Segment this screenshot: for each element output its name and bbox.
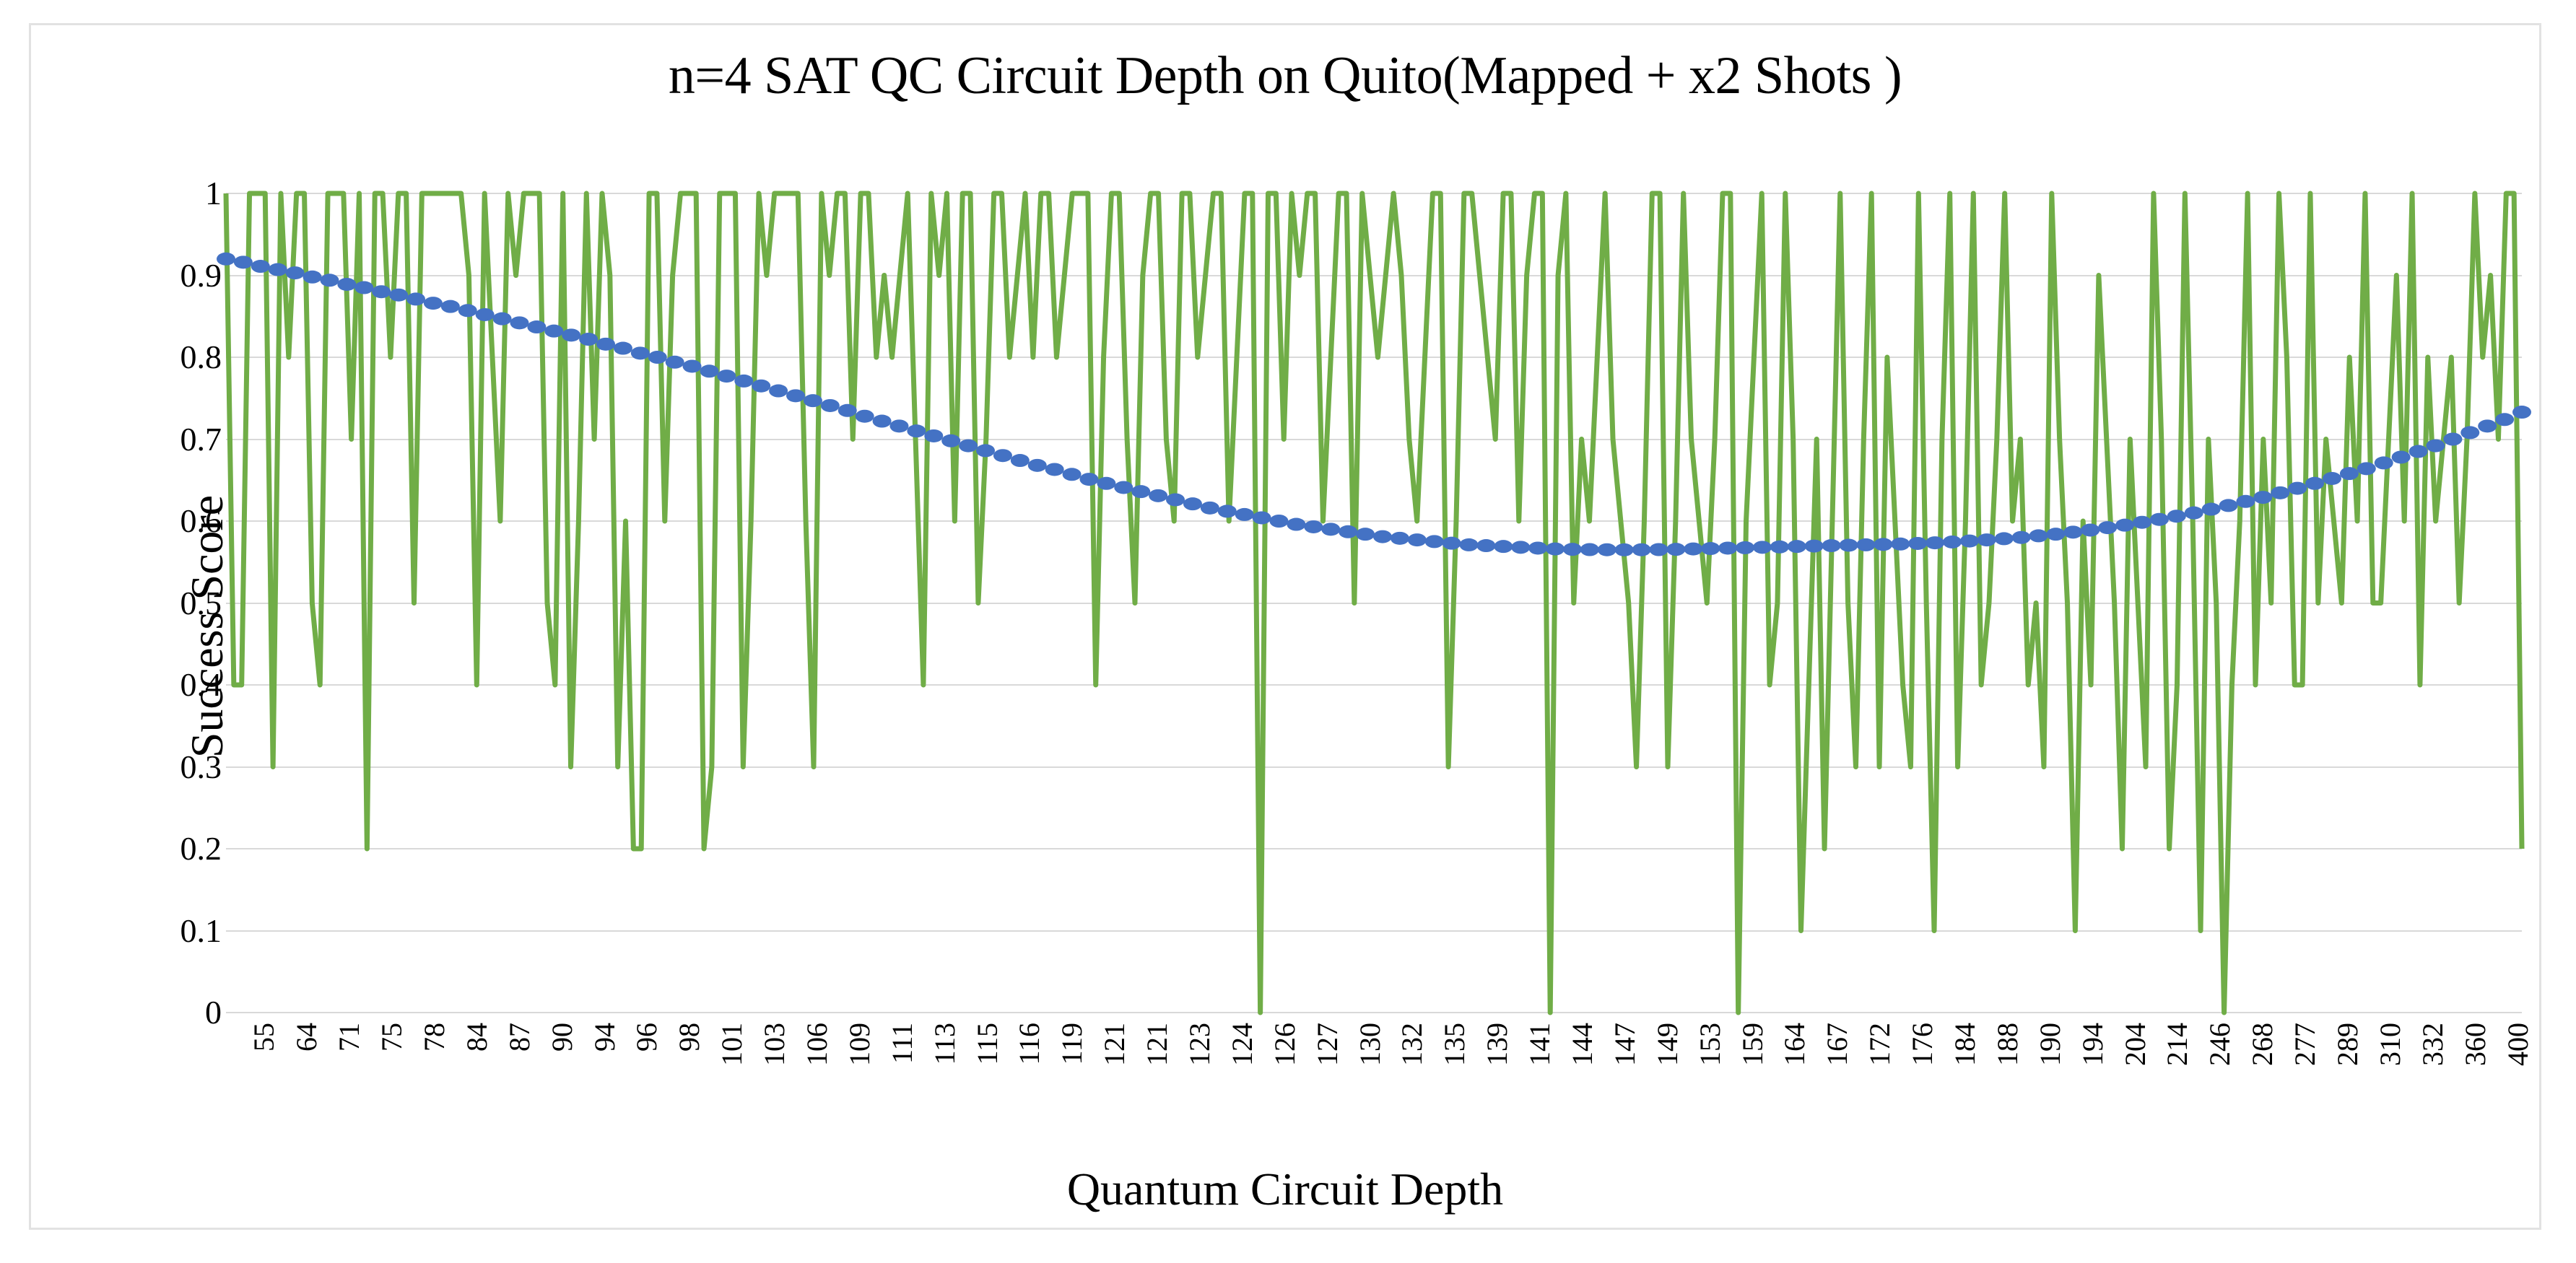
trendline-dot [769, 385, 788, 398]
success-score-line [226, 193, 2522, 1013]
trendline-dot [1822, 539, 1841, 552]
x-axis-tick-label: 94 [566, 1020, 609, 1150]
trendline-dot [1598, 543, 1616, 556]
trendline-dot [2115, 519, 2134, 532]
trendline-dot [337, 278, 356, 291]
trendline-dot [2185, 507, 2203, 520]
trendline-dot [1632, 543, 1651, 556]
x-axis-tick-label: 141 [1501, 1020, 1544, 1150]
y-axis-tick-label: 0.3 [92, 751, 222, 784]
x-axis-tick-label: 124 [1204, 1020, 1247, 1150]
x-axis-tick-label: 310 [2351, 1020, 2395, 1150]
x-axis-tick-label: 149 [1629, 1020, 1672, 1150]
trendline-dot [1995, 532, 2014, 545]
trendline-dot [1356, 528, 1375, 541]
trendline-dot [2478, 419, 2497, 432]
trendline-dot [1304, 520, 1323, 533]
x-axis-tick-label: 111 [863, 1020, 907, 1150]
x-axis-tick-label: 103 [736, 1020, 779, 1150]
x-axis-tick-label: 96 [608, 1020, 651, 1150]
trendline-dot [493, 313, 512, 325]
trendline-dot [1891, 538, 1910, 551]
trendline-dot [2046, 528, 2065, 541]
trendline-dot [1391, 532, 1409, 545]
trendline-dot [2323, 472, 2341, 485]
trendline-dot [2426, 440, 2445, 453]
trendline-dot [2236, 495, 2255, 508]
trendline-dot [1287, 518, 1305, 531]
trendline-dot [2305, 477, 2324, 490]
trendline-dot [303, 271, 322, 284]
trendline-dot [856, 410, 874, 423]
trendline-dot [941, 434, 960, 447]
x-axis-tick-label: 84 [438, 1020, 482, 1150]
trendline-dot [1805, 540, 1824, 553]
trendline-dot [286, 266, 305, 279]
trendline-dot [2495, 413, 2514, 426]
y-axis-tick-label: 0.6 [92, 504, 222, 538]
trendline-dot [1874, 538, 1892, 551]
trendline-dot [441, 300, 460, 313]
x-axis-tick-label: 119 [1033, 1020, 1076, 1150]
trendline-dot [2460, 426, 2479, 439]
trendline-dot [752, 380, 770, 393]
y-axis-tick-label: 0.1 [92, 914, 222, 948]
trendline-dot [1131, 485, 1150, 498]
trendline-dot [389, 289, 408, 302]
x-axis-tick-label: 71 [310, 1020, 354, 1150]
trendline-dot [2167, 510, 2186, 523]
trendline-dot [2219, 499, 2238, 512]
x-axis-tick-label: 126 [1246, 1020, 1289, 1150]
trendline-dot [2063, 525, 2082, 538]
trendline-dot [269, 263, 287, 276]
trendline-dot [1908, 537, 1927, 550]
trendline-dot [1079, 473, 1098, 486]
trendline-dot [1856, 538, 1875, 551]
trendline-dot [476, 308, 495, 321]
trendline-dot [614, 342, 632, 355]
trendline-dot [1926, 536, 1944, 549]
chart-title: n=4 SAT QC Circuit Depth on Quito(Mapped… [31, 45, 2539, 107]
x-axis-tick-label: 246 [2181, 1020, 2224, 1150]
trendline-dot [1511, 541, 1530, 554]
trendline-dot [1788, 540, 1806, 553]
trendline-dot [1253, 511, 1271, 524]
trendline-dot [959, 440, 978, 453]
x-axis-tick-label: 75 [353, 1020, 396, 1150]
trendline-dot [1684, 543, 1702, 556]
trendline-dot [666, 356, 684, 369]
x-axis-tick-label: 121 [1118, 1020, 1162, 1150]
trendline-dot [2271, 486, 2289, 499]
x-axis-tick-label: 159 [1714, 1020, 1757, 1150]
trendline-dot [372, 285, 391, 298]
trendline-dot [1373, 530, 1392, 543]
x-axis-tick-label: 130 [1331, 1020, 1375, 1150]
trendline-dot [1114, 481, 1133, 494]
trendline-dot [648, 351, 667, 364]
trendline-dot [1666, 543, 1685, 556]
trendline-dot [1460, 538, 1479, 551]
x-axis-tick-label: 115 [949, 1020, 992, 1150]
trendline-dot [993, 449, 1012, 462]
series-canvas [226, 193, 2522, 1013]
trendline-dot [1753, 541, 1772, 554]
x-axis-tick-labels: 5564717578848790949698101103106109111113… [226, 1020, 2522, 1153]
trendline-dot [821, 399, 840, 412]
trendline-dot [1840, 538, 1858, 551]
x-axis-tick-label: 190 [2011, 1020, 2055, 1150]
trendline-dot [2443, 433, 2462, 446]
trendline-dot [1201, 502, 1219, 515]
x-axis-tick-label: 277 [2266, 1020, 2310, 1150]
plot-inner [226, 193, 2522, 1013]
x-axis-tick-label: 167 [1798, 1020, 1842, 1150]
trendline-dot [1650, 543, 1668, 556]
trendline-dot [786, 389, 805, 402]
trendline-dot [544, 325, 563, 338]
x-axis-tick-label: 400 [2479, 1020, 2523, 1150]
x-axis-title: Quantum Circuit Depth [31, 1163, 2539, 1216]
trendline-dot [2392, 450, 2411, 463]
x-axis-tick-label: 332 [2394, 1020, 2437, 1150]
trendline-dot [2012, 531, 2031, 544]
trendline-dot [631, 346, 650, 359]
x-axis-tick-label: 116 [991, 1020, 1034, 1150]
trendline-dot [234, 255, 253, 268]
trendline-dot [251, 260, 270, 273]
trendline-dot [2133, 516, 2151, 529]
trendline-dot [838, 404, 857, 417]
trendline-dot [1235, 508, 1254, 521]
trendline-dot [510, 316, 528, 329]
trendline-dot [1339, 525, 1357, 538]
x-axis-tick-label: 176 [1884, 1020, 1927, 1150]
trendline-dot [1408, 533, 1427, 546]
x-axis-tick-label: 194 [2054, 1020, 2097, 1150]
trendline-dot [1615, 543, 1634, 556]
y-axis-tick-label: 0 [92, 996, 222, 1029]
y-axis-tick-label: 0.5 [92, 587, 222, 620]
trendline-dot [1218, 504, 1237, 517]
x-axis-tick-label: 87 [481, 1020, 524, 1150]
trendline-dot [1183, 497, 1202, 510]
trendline-dot [924, 429, 943, 442]
x-axis-tick-label: 132 [1373, 1020, 1417, 1150]
trendline-dot [2253, 491, 2272, 504]
trendline-dot [1028, 459, 1047, 472]
x-axis-tick-label: 188 [1969, 1020, 2012, 1150]
trendline-dot [1736, 541, 1754, 554]
x-axis-tick-label: 139 [1458, 1020, 1502, 1150]
x-axis-tick-label: 172 [1841, 1020, 1884, 1150]
chart-frame: n=4 SAT QC Circuit Depth on Quito(Mapped… [29, 23, 2541, 1230]
x-axis-tick-label: 164 [1756, 1020, 1799, 1150]
x-axis-tick-label: 98 [650, 1020, 694, 1150]
trendline-dot [2098, 521, 2117, 534]
trendline-dot [1977, 533, 1996, 546]
trendline-dot [1494, 540, 1513, 553]
x-axis-tick-label: 78 [396, 1020, 439, 1150]
trendline-dot [354, 281, 373, 294]
trendline-dot [2081, 523, 2099, 536]
x-axis-tick-label: 121 [1076, 1020, 1119, 1150]
trendline-dot [700, 364, 718, 377]
trendline-dot [1563, 543, 1582, 556]
x-axis-tick-label: 55 [225, 1020, 269, 1150]
trendline-dot [2375, 456, 2393, 469]
trendline-dot [2512, 406, 2531, 419]
x-axis-tick-label: 289 [2309, 1020, 2352, 1150]
trendline-dot [562, 328, 580, 341]
trendline-dot [1149, 489, 1167, 502]
trendline-dot [1321, 523, 1340, 536]
x-axis-tick-label: 360 [2437, 1020, 2480, 1150]
trendline-dot [1045, 463, 1064, 476]
y-axis-tick-label: 0.9 [92, 259, 222, 292]
trendline-dot [2029, 529, 2048, 542]
trendline-dot [1528, 541, 1547, 554]
trendline-dot [2340, 467, 2359, 480]
trendline-dot [1166, 493, 1185, 506]
trendline-dot [406, 292, 425, 305]
trendline-dot [2409, 445, 2428, 458]
trendline-dot [1701, 542, 1720, 555]
trendline-dot [1097, 477, 1115, 490]
x-axis-tick-label: 268 [2224, 1020, 2267, 1150]
x-axis-tick-label: 144 [1544, 1020, 1587, 1150]
trendline-dot [579, 333, 598, 346]
trendline-dot [1476, 539, 1495, 552]
trendline-dot [596, 338, 615, 351]
x-axis-tick-label: 90 [523, 1020, 567, 1150]
trendline-dot [1960, 535, 1979, 548]
trendline-dot [2150, 513, 2169, 526]
y-axis-tick-label: 1 [92, 177, 222, 210]
trendline-dot [527, 320, 546, 333]
y-axis-tick-label: 0.8 [92, 341, 222, 374]
trendline-dot [320, 274, 339, 287]
trendline-dot [1011, 454, 1030, 467]
trendline-dot [804, 394, 822, 407]
x-axis-tick-label: 147 [1586, 1020, 1629, 1150]
trendline-dot [1269, 515, 1288, 528]
trendline-dot [976, 444, 995, 457]
x-axis-tick-label: 64 [268, 1020, 311, 1150]
trendline-dot [2357, 462, 2376, 475]
trendline-dot [734, 375, 753, 388]
trendline-dot [907, 424, 926, 437]
x-axis-tick-label: 113 [906, 1020, 949, 1150]
x-axis-tick-label: 123 [1161, 1020, 1204, 1150]
trendline-dot [1943, 536, 1962, 549]
trendline-dot [424, 297, 443, 310]
trendline-dot [2288, 482, 2307, 495]
x-axis-tick-label: 106 [778, 1020, 822, 1150]
x-axis-tick-label: 204 [2097, 1020, 2140, 1150]
x-axis-tick-label: 127 [1289, 1020, 1332, 1150]
trendline-dot [1546, 543, 1565, 556]
y-axis-tick-label: 0.7 [92, 423, 222, 456]
plot-area: 10.90.80.70.60.50.40.30.20.10 [226, 193, 2522, 1013]
trendline-dot [717, 370, 736, 383]
x-axis-tick-label: 184 [1926, 1020, 1970, 1150]
trendline-dot [1770, 541, 1789, 554]
trendline-dot [873, 415, 892, 428]
y-axis-tick-label: 0.2 [92, 832, 222, 865]
trendline-dot [1443, 537, 1461, 550]
trendline-dot [889, 419, 908, 432]
trendline-dot [458, 304, 477, 317]
trendline-dot [1063, 468, 1082, 481]
trendline-dot [2202, 503, 2221, 516]
x-axis-tick-label: 109 [821, 1020, 864, 1150]
x-axis-tick-label: 153 [1671, 1020, 1715, 1150]
trendline-dot [683, 359, 702, 372]
trendline-dot [1580, 543, 1599, 556]
trendline-dot [1425, 535, 1444, 548]
trendline-dot [1718, 541, 1737, 554]
y-axis-tick-label: 0.4 [92, 668, 222, 702]
x-axis-tick-label: 214 [2138, 1020, 2182, 1150]
x-axis-tick-label: 135 [1416, 1020, 1459, 1150]
x-axis-tick-label: 101 [693, 1020, 736, 1150]
